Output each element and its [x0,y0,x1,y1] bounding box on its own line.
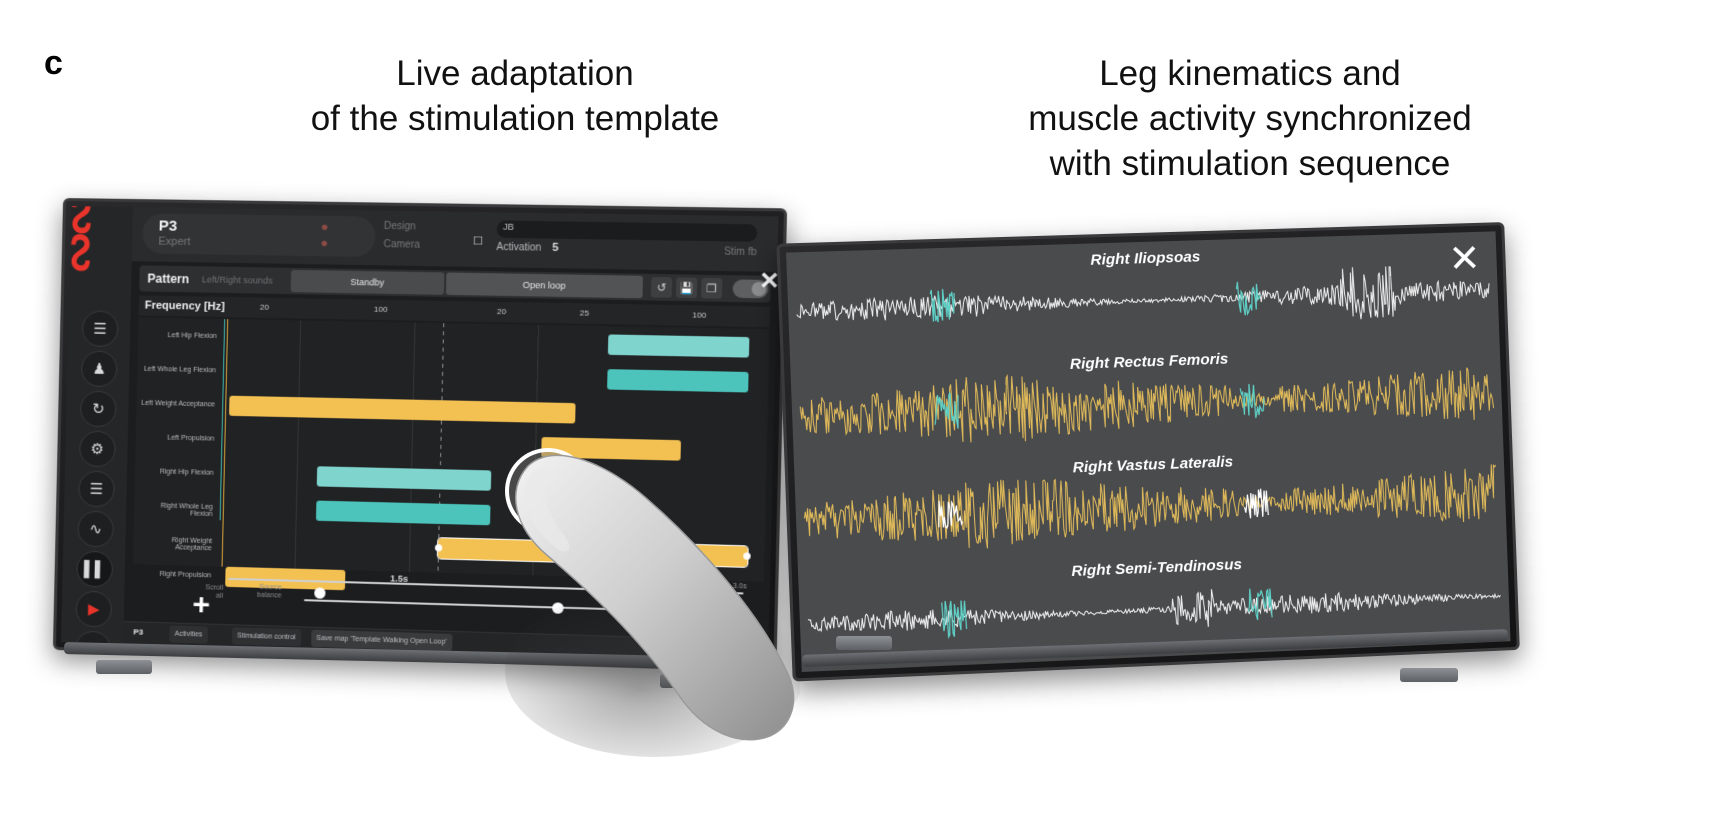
freq-tick-2: 20 [497,307,506,316]
heading-left-line1: Live adaptation [245,52,785,97]
sidebar-menu-icon[interactable]: ☰ [82,310,119,347]
right-tablet-foot-2 [1400,668,1458,682]
save-icon[interactable]: 💾 [676,277,697,298]
bottom-patient-id: P3 [133,627,143,636]
camera-label[interactable]: Camera [383,239,420,251]
row-label-6: Right Weight Acceptance [135,536,212,552]
activation-value: 5 [552,242,559,254]
undo-icon[interactable]: ↺ [651,277,672,298]
app-topbar: P3 Expert ● ● Design Camera ☐ JB Activat… [132,207,779,272]
heading-right-line1: Leg kinematics and [930,52,1570,97]
design-label[interactable]: Design [384,221,416,233]
left-tablet-foot-2 [660,674,716,688]
emg-trace-0 [796,263,1491,338]
row-label-4: Right Hip Flexion [137,468,214,477]
pattern-grid[interactable]: Left Hip Flexion Left Whole Leg Flexion … [133,317,770,581]
panel-label: c [44,44,62,83]
user-mode: Expert [158,236,190,249]
segment-open-loop[interactable]: Open loop [446,272,643,298]
gridline-2 [409,323,416,572]
freq-tick-0: 20 [260,303,269,312]
freq-tick-4: 100 [692,310,706,319]
bar-right-hip-flexion[interactable] [317,466,492,491]
app-sidebar: ∾∾ ☰ ♟ ↻ ⚙ ☰ ∿ ▌▌ ▶ ◢ ⏻ [61,206,133,644]
emg-traces [786,231,1510,672]
pattern-title: Pattern [147,271,189,286]
search-input[interactable] [497,220,758,241]
balance-knob[interactable] [552,602,564,614]
freq-tick-1: 100 [374,305,388,314]
person-icon-a: ● [320,219,328,234]
stim-status: Stim fb [724,246,757,258]
person-icon-b: ● [320,235,328,250]
leftright-sounds-label[interactable]: Left/Right sounds [202,274,273,285]
patient-id: P3 [159,217,178,234]
sidebar-refresh-icon[interactable]: ↻ [80,390,117,427]
bar-right-weight-acceptance[interactable] [438,538,748,567]
source-balance-label: Sourcebalance [229,583,282,600]
row-label-2: Left Weight Acceptance [139,400,216,409]
left-tablet-foot-1 [96,660,152,674]
row-label-1: Left Whole Leg Flexion [139,366,216,375]
bottom-tab-activities[interactable]: Activities [169,625,207,643]
balance-track[interactable] [304,599,748,614]
search-value: JB [503,222,514,232]
touch-indicator [505,448,591,534]
heading-right-line2: muscle activity synchronized [930,97,1570,142]
row-label-0: Left Hip Flexion [140,332,217,341]
bar-handle-right[interactable] [743,552,751,559]
activation-label: Activation [496,242,541,254]
bar-left-weight-acceptance[interactable] [229,396,576,424]
snapshot-icon[interactable]: ☐ [468,230,489,251]
freq-tick-3: 25 [580,308,589,317]
scroll-all-label: Scrollall [172,583,223,600]
axis-mid-label: 1.5s [390,573,408,584]
gridline-1 [295,321,302,569]
scroll-track[interactable] [228,578,743,595]
row-label-3: Left Propulsion [138,434,215,443]
sidebar-settings-icon[interactable]: ⚙ [79,431,116,468]
right-tablet-device: ✕ Right Iliopsoas Right Rectus Femoris R… [776,222,1520,682]
heading-left-line2: of the stimulation template [245,97,785,142]
emg-trace-2 [803,461,1498,555]
emg-stim-marker-3-0 [942,600,967,637]
right-tablet-screen: ✕ Right Iliopsoas Right Rectus Femoris R… [786,231,1510,672]
frequency-label: Frequency [Hz] [145,300,225,314]
sidebar-person-icon[interactable]: ♟ [81,350,118,387]
segment-standby[interactable]: Standby [291,270,445,295]
left-tablet-device: ∾∾ ☰ ♟ ↻ ⚙ ☰ ∿ ▌▌ ▶ ◢ ⏻ P3 Expert ● ● De… [53,198,787,672]
sidebar-waveform-icon[interactable]: ∿ [77,511,114,548]
right-tablet-foot-1 [836,636,892,650]
row-label-5: Right Whole Leg Flexion [136,502,213,518]
emg-trace-1 [799,359,1494,449]
bar-left-hip-flexion[interactable] [608,334,750,357]
scroll-knob[interactable] [314,587,325,598]
sidebar-sliders-icon[interactable]: ☰ [78,471,115,508]
sidebar-device-icon[interactable]: ▶ [75,591,112,628]
bottom-tab-stim-control[interactable]: Stimulation control [232,627,301,646]
playhead[interactable] [437,323,444,572]
heading-right-line3: with stimulation sequence [930,142,1570,187]
sidebar-bars-icon[interactable]: ▌▌ [76,551,113,588]
emg-stim-marker-2-1 [1244,488,1269,518]
copy-icon[interactable]: ❐ [701,278,722,299]
left-tablet-screen: ∾∾ ☰ ♟ ↻ ⚙ ☰ ∿ ▌▌ ▶ ◢ ⏻ P3 Expert ● ● De… [61,206,778,664]
bar-left-whole-leg-flexion[interactable] [607,369,749,392]
bar-right-whole-leg-flexion[interactable] [316,501,491,526]
axis-end-label: 3.0s [733,583,747,591]
heading-right: Leg kinematics and muscle activity synch… [930,52,1570,186]
heading-left: Live adaptation of the stimulation templ… [245,52,785,142]
close-icon[interactable]: × [760,265,779,296]
